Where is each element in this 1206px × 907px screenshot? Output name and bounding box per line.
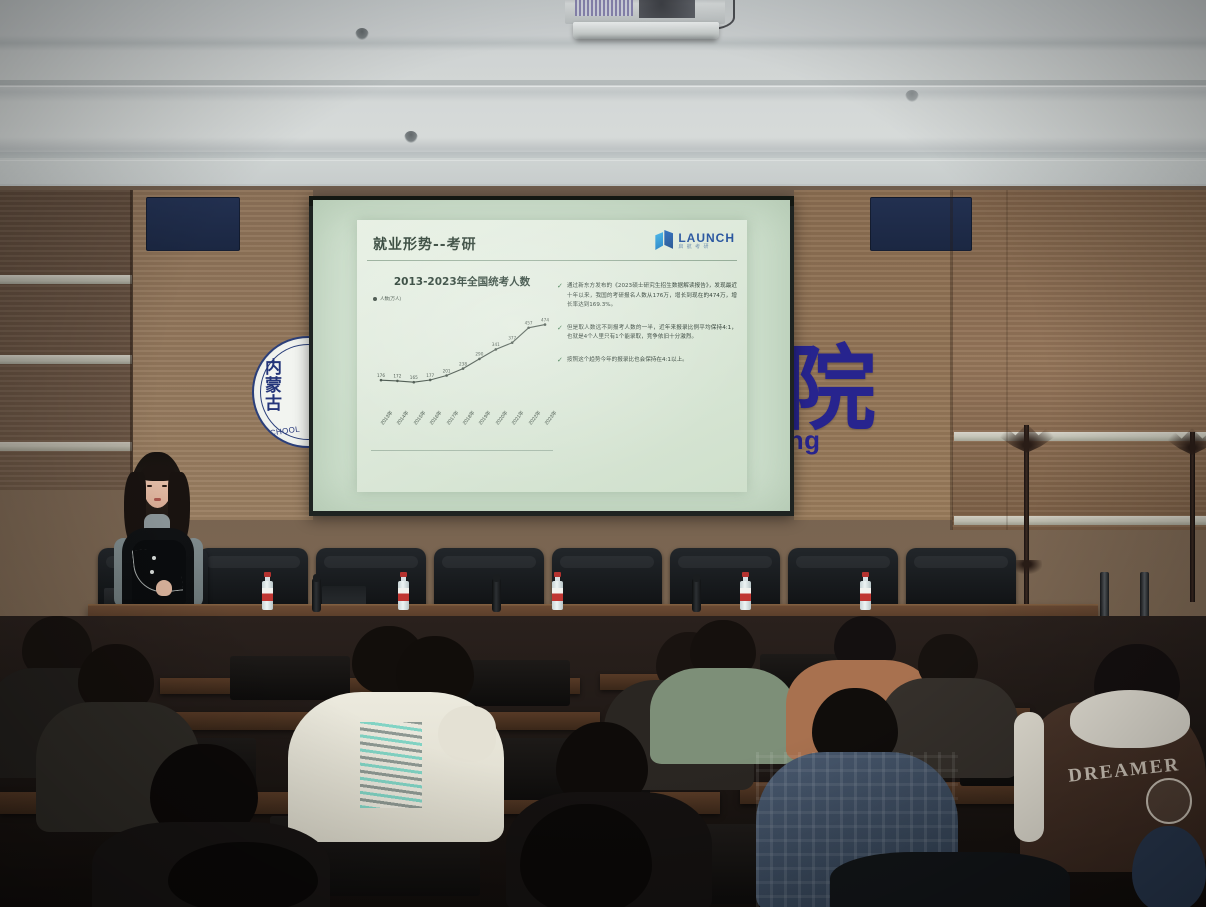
- stage-chair: [788, 548, 898, 610]
- launch-logo-subtext: 启 航 考 研: [678, 243, 735, 250]
- vest-button: [152, 556, 156, 560]
- ceiling-light-icon: [404, 131, 418, 143]
- stage-chair: [434, 548, 544, 610]
- chart-point-label: 457: [525, 321, 533, 326]
- chart-data-point: [396, 380, 399, 383]
- chart-point-label: 201: [443, 368, 451, 373]
- emblem-cn-text: 内蒙古: [262, 358, 281, 412]
- presenter-hand: [156, 580, 172, 596]
- chart-point-label: 290: [475, 352, 483, 357]
- wall-navy-panel: [870, 197, 972, 251]
- water-bottle: [398, 572, 409, 610]
- launch-logo-icon: [655, 230, 674, 251]
- wall-panel-right: [952, 190, 1206, 530]
- water-bottle: [552, 572, 563, 610]
- chart-point-label: 341: [492, 342, 500, 347]
- audience-head-front: [168, 842, 318, 907]
- chart-data-point: [511, 341, 514, 344]
- chart-data-point: [544, 323, 547, 326]
- ceiling-projector: [565, 0, 725, 40]
- chart-point-label: 377: [508, 335, 516, 340]
- wall-strip: [0, 275, 132, 284]
- vest-button: [150, 570, 154, 574]
- seat-back: [230, 656, 350, 700]
- chart: 2013-2023年全国统考人数 人数(万人) 1761721651772012…: [367, 274, 557, 474]
- hoodie-graphic-print: [360, 722, 422, 808]
- slide-title: 就业形势--考研: [373, 234, 477, 254]
- audience-torso-white-hoodie: [288, 692, 504, 842]
- projection-screen: 就业形势--考研 LAUNCH 启 航 考 研 2013-2023年全国统考人数…: [313, 200, 790, 511]
- legend-label: 人数(万人): [380, 296, 401, 302]
- chart-plot-area: 176172165177201238290341377457474: [371, 304, 553, 419]
- hoodie-hood: [438, 706, 496, 762]
- checkmark-icon: ✓: [557, 356, 563, 366]
- chart-data-point: [495, 348, 498, 351]
- lecture-hall-photo: 内蒙古 SCHOOL 院 ing 就业形势--考研 LAUNCH 启 航 考 研…: [0, 0, 1206, 907]
- chart-title: 2013-2023年全国统考人数: [367, 274, 557, 289]
- ceiling-seam: [0, 86, 1206, 87]
- wall-strip: [0, 442, 132, 451]
- slide-bullet: ✓通过新东方发布的《2023硕士研究生招生数据解读报告》，发现最近十年以来，我国…: [557, 282, 737, 311]
- presenter-mouth: [154, 498, 161, 501]
- chart-data-point: [478, 358, 481, 361]
- legend-marker: [373, 297, 377, 301]
- chart-point-label: 172: [393, 374, 401, 379]
- ceiling-band: [0, 152, 1206, 158]
- metal-stand: [1140, 572, 1149, 620]
- audience-area: DREAMER: [0, 616, 1206, 907]
- checkmark-icon: ✓: [557, 324, 563, 343]
- launch-logo: LAUNCH 启 航 考 研: [655, 230, 735, 251]
- chart-point-label: 238: [459, 361, 467, 366]
- presenter-eye: [162, 485, 167, 487]
- projector-vent: [575, 0, 633, 16]
- chart-baseline: [371, 450, 553, 451]
- stage-chair: [670, 548, 780, 610]
- microphone: [492, 578, 501, 612]
- wall-strip: [954, 516, 1206, 525]
- chart-point-label: 165: [410, 375, 418, 380]
- chart-data-point: [462, 367, 465, 370]
- chart-point-label: 177: [426, 373, 434, 378]
- jacket-sleeve: [1014, 712, 1044, 842]
- wall-strip: [0, 355, 132, 364]
- ceiling-light-icon: [355, 28, 369, 40]
- stage-chair-row: [80, 548, 1100, 612]
- wall-navy-panel: [146, 197, 240, 251]
- jacket-crest-icon: [1146, 778, 1192, 824]
- chart-x-axis: 2013年2014年2015年2016年2017年2018年2019年2020年…: [371, 420, 553, 454]
- chart-point-label: 176: [377, 373, 385, 378]
- jacket-text: DREAMER: [1067, 750, 1206, 788]
- water-bottle: [740, 572, 751, 610]
- water-bottle: [860, 572, 871, 610]
- ceiling-band: [0, 80, 1206, 85]
- slide-bullet-text: 通过新东方发布的《2023硕士研究生招生数据解读报告》，发现最近十年以来，我国的…: [567, 282, 737, 311]
- metal-stand: [1100, 572, 1109, 620]
- slide-divider: [367, 260, 737, 261]
- wall-seam: [950, 190, 953, 530]
- chart-point-label: 474: [541, 317, 549, 322]
- chart-svg: 176172165177201238290341377457474: [371, 304, 553, 419]
- chart-data-point: [380, 379, 383, 382]
- ceiling-seam: [0, 160, 1206, 161]
- microphone: [692, 578, 701, 612]
- chart-data-point: [445, 374, 448, 377]
- jacket-hood: [1070, 690, 1190, 748]
- audience-torso-green-jacket: [650, 668, 796, 764]
- coat-rack-pole: [1190, 432, 1195, 602]
- slide-bullet-list: ✓通过新东方发布的《2023硕士研究生招生数据解读报告》，发现最近十年以来，我国…: [557, 282, 737, 378]
- presenter: [110, 452, 206, 612]
- slide-bullet: ✓按照这个趋势今年的报录比也会保持在4:1以上。: [557, 356, 737, 366]
- chart-data-point: [527, 326, 530, 329]
- microphone: [312, 578, 321, 612]
- stage-chair: [906, 548, 1016, 610]
- slide-bullet: ✓但是取人数远不到报考人数的一半，近年来报录比例平均保持4:1，也就是4个人里只…: [557, 324, 737, 343]
- chart-legend: 人数(万人): [373, 296, 401, 302]
- presentation-slide: 就业形势--考研 LAUNCH 启 航 考 研 2013-2023年全国统考人数…: [357, 220, 747, 492]
- presenter-eye: [147, 485, 152, 487]
- wood-grain: [952, 190, 1206, 530]
- ceiling-light-icon: [905, 90, 919, 102]
- slide-bullet-text: 但是取人数远不到报考人数的一半，近年来报录比例平均保持4:1，也就是4个人里只有…: [567, 324, 737, 343]
- slide-bullet-text: 按照这个趋势今年的报录比也会保持在4:1以上。: [567, 356, 688, 366]
- checkmark-icon: ✓: [557, 282, 563, 311]
- audience-torso-front: [830, 852, 1070, 907]
- chart-data-point: [413, 381, 416, 384]
- stage-chair: [198, 548, 308, 610]
- water-bottle: [262, 572, 273, 610]
- projector-shadow: [577, 37, 715, 42]
- chart-data-point: [429, 379, 432, 382]
- wall-seam: [1006, 190, 1008, 530]
- stage-chair: [552, 548, 662, 610]
